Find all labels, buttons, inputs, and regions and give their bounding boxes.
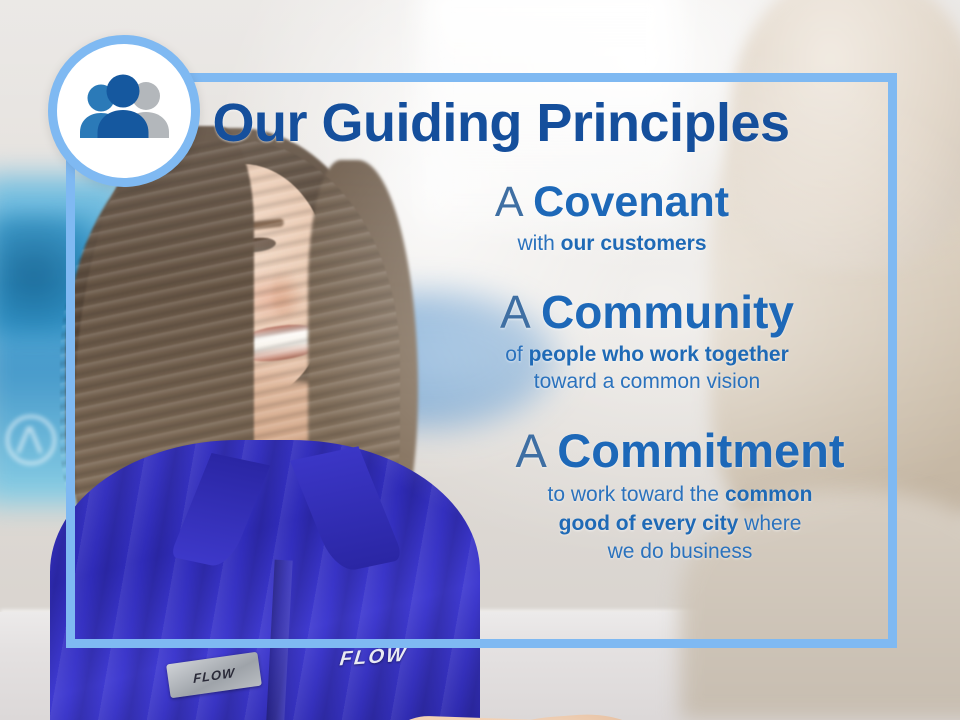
principle-covenant-article: A <box>495 178 521 226</box>
principle-community-title: A Community <box>404 288 890 336</box>
principle-covenant-title: A Covenant <box>334 180 890 225</box>
community-sub-bold-1: people who work together <box>529 343 789 366</box>
poster-canvas: FLOW FLOW Our Guiding Principles <box>0 0 960 720</box>
covenant-sub-bold: our customers <box>561 232 707 255</box>
principle-covenant-subtitle: with our customers <box>334 231 890 258</box>
polo-chest-logo: FLOW <box>338 644 408 672</box>
principle-community-word: Community <box>541 286 794 338</box>
principles-list: A Covenant with our customers A Communit… <box>330 180 890 582</box>
commitment-sub-bold-2: good of every city <box>559 512 739 535</box>
principle-community: A Community of people who work together … <box>404 288 890 396</box>
principle-community-article: A <box>500 286 528 338</box>
name-badge-brand-text: FLOW <box>193 664 235 685</box>
page-title: Our Guiding Principles <box>0 92 960 154</box>
principle-community-subtitle: of people who work together toward a com… <box>404 342 890 396</box>
principle-commitment: A Commitment to work toward the common g… <box>470 426 890 566</box>
principle-covenant: A Covenant with our customers <box>334 180 890 258</box>
principle-commitment-title: A Commitment <box>470 426 890 475</box>
principle-commitment-subtitle: to work toward the common good of every … <box>470 481 890 565</box>
community-sub-plain-2: toward a common vision <box>534 370 760 393</box>
principle-covenant-word: Covenant <box>533 178 729 226</box>
principle-commitment-word: Commitment <box>557 424 844 477</box>
covenant-sub-plain: with <box>517 232 560 255</box>
principle-commitment-article: A <box>515 424 544 477</box>
commitment-sub-bold-1: common <box>725 483 813 506</box>
commitment-sub-plain-2: where <box>738 512 801 535</box>
commitment-sub-plain-1: to work toward the <box>548 483 725 506</box>
community-sub-plain-1: of <box>505 343 528 366</box>
commitment-sub-plain-3: we do business <box>608 540 753 563</box>
